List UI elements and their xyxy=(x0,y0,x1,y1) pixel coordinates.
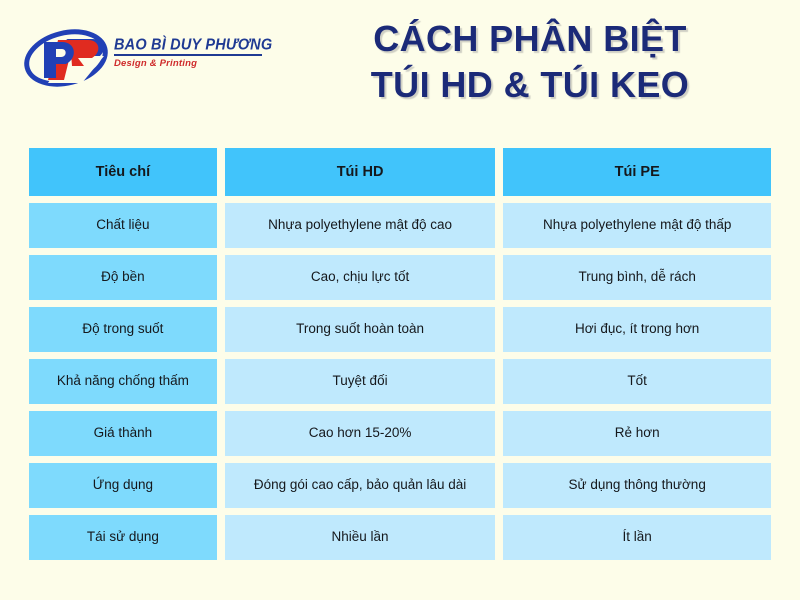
cell-tui-pe: Ít lần xyxy=(503,515,771,560)
dp-monogram-swoosh-icon xyxy=(22,22,110,94)
brand-logo: BAO BÌ DUY PHƯƠNG Design & Printing xyxy=(22,22,267,97)
page-header: BAO BÌ DUY PHƯƠNG Design & Printing CÁCH… xyxy=(0,0,800,135)
cell-tui-pe: Nhựa polyethylene mật độ thấp xyxy=(503,203,771,248)
brand-name: BAO BÌ DUY PHƯƠNG xyxy=(114,38,264,54)
page-title: CÁCH PHÂN BIỆT TÚI HD & TÚI KEO xyxy=(280,16,780,108)
brand-tagline: Design & Printing xyxy=(114,58,264,69)
comparison-table: Tiêu chí Túi HD Túi PE Chất liệu Nhựa po… xyxy=(29,148,771,567)
column-header-tui-pe: Túi PE xyxy=(503,148,771,196)
column-header-tui-hd: Túi HD xyxy=(225,148,496,196)
table-row: Khả năng chống thấm Tuyệt đối Tốt xyxy=(29,359,771,404)
table-row: Giá thành Cao hơn 15-20% Rẻ hơn xyxy=(29,411,771,456)
page-title-line-2: TÚI HD & TÚI KEO xyxy=(280,62,780,108)
cell-criteria: Tái sử dụng xyxy=(29,515,217,560)
cell-tui-hd: Cao, chịu lực tốt xyxy=(225,255,496,300)
cell-tui-pe: Tốt xyxy=(503,359,771,404)
table-row: Chất liệu Nhựa polyethylene mật độ cao N… xyxy=(29,203,771,248)
cell-tui-hd: Đóng gói cao cấp, bảo quản lâu dài xyxy=(225,463,496,508)
table-row: Độ trong suốt Trong suốt hoàn toàn Hơi đ… xyxy=(29,307,771,352)
cell-tui-hd: Nhiều lần xyxy=(225,515,496,560)
page-title-line-1: CÁCH PHÂN BIỆT xyxy=(280,16,780,62)
cell-tui-pe: Hơi đục, ít trong hơn xyxy=(503,307,771,352)
cell-tui-pe: Sử dụng thông thường xyxy=(503,463,771,508)
brand-divider xyxy=(114,54,262,56)
cell-tui-hd: Tuyệt đối xyxy=(225,359,496,404)
cell-tui-pe: Trung bình, dễ rách xyxy=(503,255,771,300)
cell-criteria: Độ bền xyxy=(29,255,217,300)
cell-tui-hd: Trong suốt hoàn toàn xyxy=(225,307,496,352)
cell-criteria: Khả năng chống thấm xyxy=(29,359,217,404)
cell-tui-hd: Nhựa polyethylene mật độ cao xyxy=(225,203,496,248)
cell-tui-pe: Rẻ hơn xyxy=(503,411,771,456)
table-header-row: Tiêu chí Túi HD Túi PE xyxy=(29,148,771,196)
table-row: Độ bền Cao, chịu lực tốt Trung bình, dễ … xyxy=(29,255,771,300)
brand-wordmark: BAO BÌ DUY PHƯƠNG Design & Printing xyxy=(114,38,264,69)
table-row: Tái sử dụng Nhiều lần Ít lần xyxy=(29,515,771,560)
cell-criteria: Độ trong suốt xyxy=(29,307,217,352)
cell-criteria: Giá thành xyxy=(29,411,217,456)
cell-criteria: Chất liệu xyxy=(29,203,217,248)
cell-tui-hd: Cao hơn 15-20% xyxy=(225,411,496,456)
table-row: Ứng dụng Đóng gói cao cấp, bảo quản lâu … xyxy=(29,463,771,508)
cell-criteria: Ứng dụng xyxy=(29,463,217,508)
column-header-criteria: Tiêu chí xyxy=(29,148,217,196)
